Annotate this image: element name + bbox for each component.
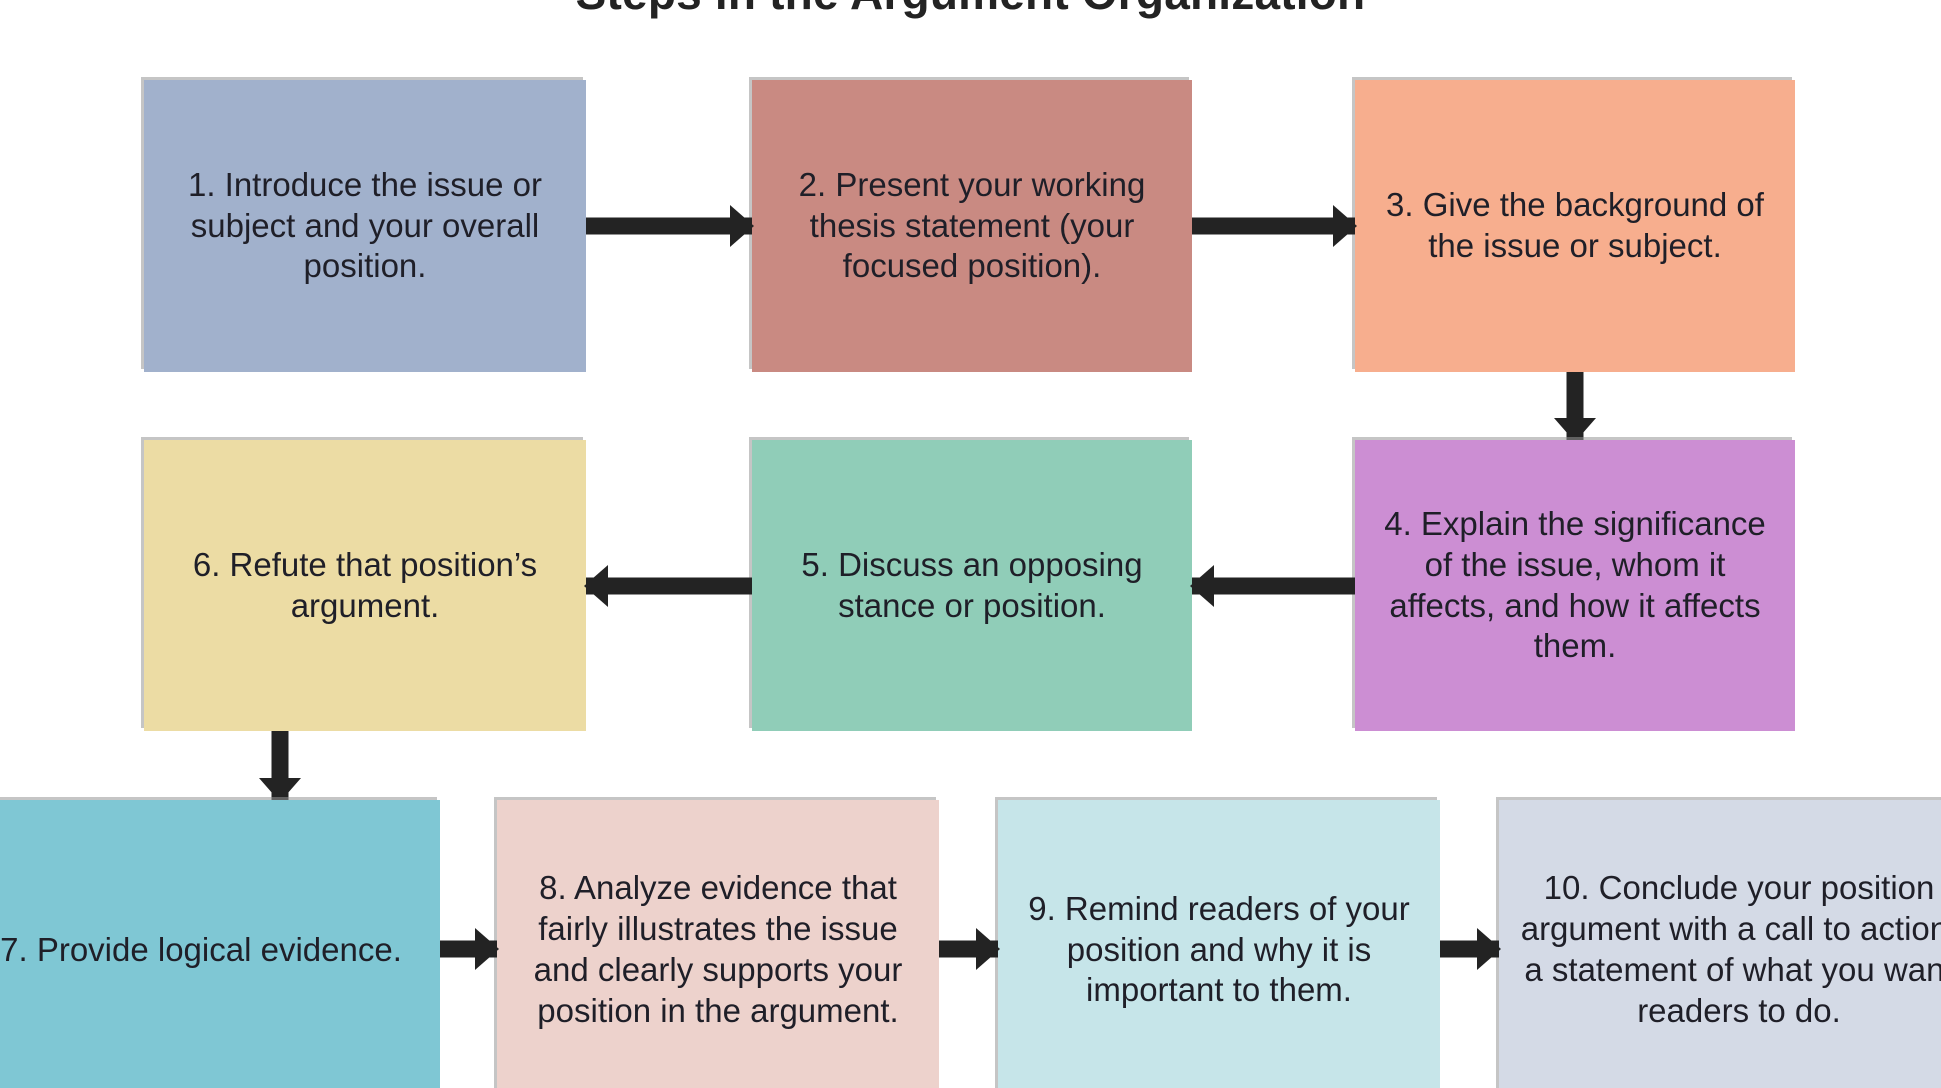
arrow-head-left-icon [584,565,608,607]
arrow-head-right-icon [976,928,1000,970]
arrow-shaft [1192,218,1355,235]
arrow-head-down-icon [259,778,301,802]
flow-node-2[interactable]: 2. Present your working thesis statement… [752,80,1192,372]
page-title: Steps in the Argument Organization [0,0,1941,30]
flow-node-5-label: 5. Discuss an opposing stance or positio… [766,545,1178,627]
flow-arrow-4-to-5 [1192,563,1355,609]
flow-arrow-7-to-8 [440,926,497,972]
flow-arrow-1-to-2 [586,203,752,249]
flow-node-8-label: 8. Analyze evidence that fairly illustra… [511,868,925,1032]
flow-arrow-3-to-4 [1552,372,1598,440]
flow-node-5[interactable]: 5. Discuss an opposing stance or positio… [752,440,1192,731]
arrow-head-right-icon [475,928,499,970]
flow-arrow-6-to-7 [257,731,303,800]
flow-node-6-label: 6. Refute that position’s argument. [158,545,572,627]
flow-node-4-label: 4. Explain the significance of the issue… [1369,504,1781,668]
arrow-shaft [586,578,752,595]
flow-arrow-2-to-3 [1192,203,1355,249]
arrow-head-right-icon [730,205,754,247]
flow-node-1-label: 1. Introduce the issue or subject and yo… [158,165,572,288]
flow-node-9[interactable]: 9. Remind readers of your position and w… [998,800,1440,1088]
arrow-head-right-icon [1477,928,1501,970]
flow-node-1[interactable]: 1. Introduce the issue or subject and yo… [144,80,586,372]
flow-node-3-label: 3. Give the background of the issue or s… [1369,185,1781,267]
arrow-head-left-icon [1190,565,1214,607]
flow-arrow-9-to-10 [1440,926,1499,972]
arrow-head-down-icon [1554,418,1596,442]
diagram-title-clip: Steps in the Argument Organization [0,0,1941,36]
flow-node-2-label: 2. Present your working thesis statement… [766,165,1178,288]
flow-node-9-label: 9. Remind readers of your position and w… [1012,889,1426,1012]
arrow-shaft [1192,578,1355,595]
flow-node-10[interactable]: 10. Conclude your position argument with… [1499,800,1941,1088]
flow-node-8[interactable]: 8. Analyze evidence that fairly illustra… [497,800,939,1088]
flowchart-canvas: Steps in the Argument Organization 1. In… [0,0,1941,1088]
flow-arrow-8-to-9 [939,926,998,972]
flow-node-7-label: 7. Provide logical evidence. [0,930,426,971]
flow-node-6[interactable]: 6. Refute that position’s argument. [144,440,586,731]
flow-node-7[interactable]: 7. Provide logical evidence. [0,800,440,1088]
flow-arrow-5-to-6 [586,563,752,609]
arrow-shaft [586,218,752,235]
flow-node-4[interactable]: 4. Explain the significance of the issue… [1355,440,1795,731]
arrow-head-right-icon [1333,205,1357,247]
flow-node-10-label: 10. Conclude your position argument with… [1513,868,1941,1032]
flow-node-3[interactable]: 3. Give the background of the issue or s… [1355,80,1795,372]
